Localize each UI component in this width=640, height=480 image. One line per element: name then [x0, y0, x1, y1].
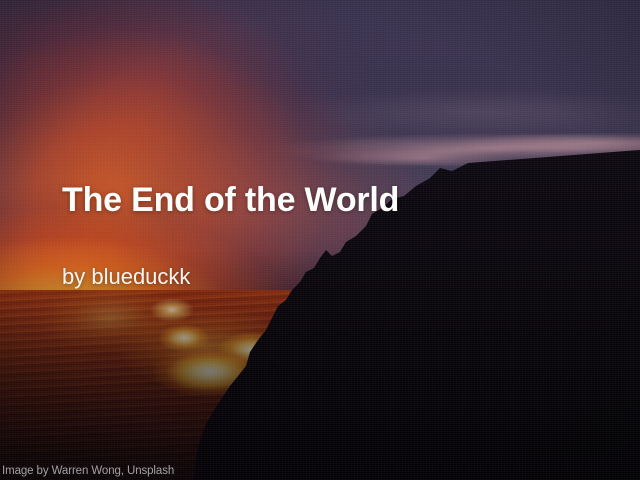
slide-title: The End of the World — [62, 181, 399, 220]
title-slide: The End of the World by blueduckk Image … — [0, 0, 640, 480]
slide-subtitle-author: by blueduckk — [62, 264, 190, 290]
image-attribution-caption: Image by Warren Wong, Unsplash — [2, 465, 174, 477]
